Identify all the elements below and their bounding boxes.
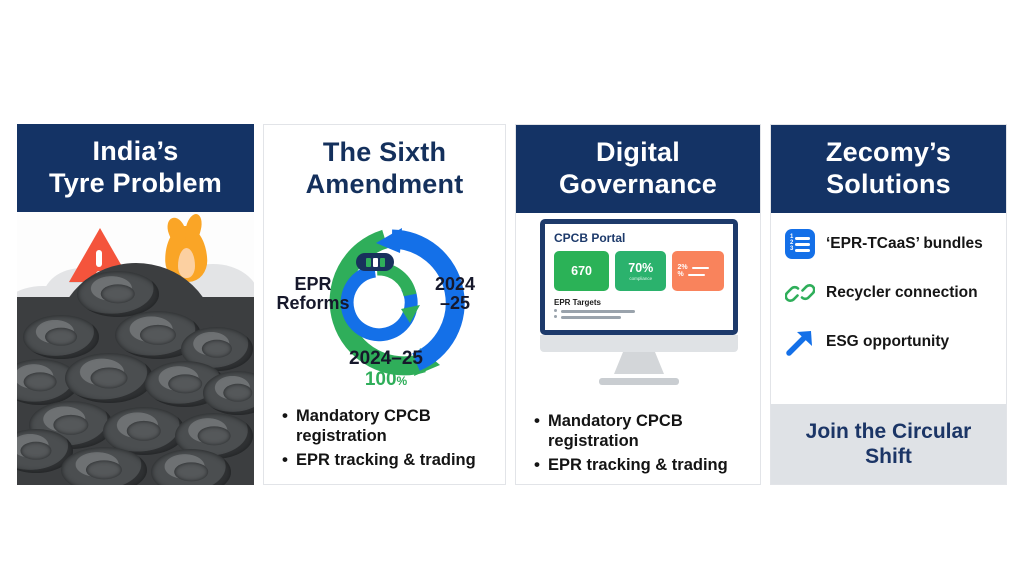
- panel-2-header: The Sixth Amendment: [264, 125, 505, 213]
- panel-2-title-line1: The Sixth: [306, 137, 464, 169]
- epr-targets-title: EPR Targets: [554, 298, 724, 307]
- monitor-stand-neck: [614, 352, 664, 374]
- monitor-stand-base: [599, 378, 679, 385]
- panel-3-bullet-list: Mandatory CPCB registration EPR tracking…: [516, 403, 760, 475]
- feature-label: ESG opportunity: [826, 333, 949, 351]
- chain-link-icon: [785, 278, 815, 308]
- list-icon-line: [795, 237, 810, 240]
- panel-4-header: Zecomy’s Solutions: [771, 125, 1006, 213]
- badge-symbol-euro: [366, 258, 371, 267]
- label-year-2024: 2024: [416, 275, 494, 294]
- panel-sixth-amendment: The Sixth Amendment: [263, 124, 506, 485]
- panel-3-title-line1: Digital: [559, 137, 717, 169]
- alert-bar: [692, 267, 709, 269]
- percent-value: 100: [365, 369, 397, 390]
- cta-line1: Join the Circular: [806, 419, 972, 444]
- label-reforms: Reforms: [274, 294, 352, 313]
- tyre: [61, 447, 147, 485]
- circular-economy-diagram: EPR Reforms 2024 –25 2024–25 100%: [264, 213, 507, 398]
- stat-card-70-percent: 70% compliance: [615, 251, 666, 291]
- stat-card-670-value: 670: [571, 264, 592, 278]
- stat-card-70-value: 70%: [628, 261, 653, 275]
- alert-row-1: 2%: [677, 264, 708, 271]
- badge-symbol-divider: [373, 258, 378, 267]
- alert-row-2: %: [677, 271, 704, 278]
- tyre: [77, 271, 159, 317]
- target-row: [554, 313, 724, 319]
- cpcb-portal-monitor: CPCB Portal 670 70% compliance 2%: [516, 213, 762, 403]
- euro-leaf-badge: [356, 253, 394, 271]
- infographic-board: India’s Tyre Problem: [0, 0, 1024, 576]
- list-item: EPR tracking & trading: [282, 450, 493, 470]
- panel-3-title-line2: Governance: [559, 169, 717, 201]
- feature-item-esg-opportunity[interactable]: ESG opportunity: [785, 327, 996, 357]
- cta-join-circular-shift[interactable]: Join the Circular Shift: [771, 404, 1006, 484]
- warning-exclamation-bar: [96, 250, 102, 267]
- alert-value-2: %: [677, 271, 683, 278]
- panel-zecomy-solutions: Zecomy’s Solutions 1 2 3 ‘EPR-TCaaS’ bun…: [770, 124, 1007, 485]
- feature-item-epr-tcaas[interactable]: 1 2 3 ‘EPR-TCaaS’ bundles: [785, 229, 996, 259]
- solutions-feature-list: 1 2 3 ‘EPR-TCaaS’ bundles Recycler conne…: [771, 213, 1006, 357]
- feature-label: Recycler connection: [826, 284, 978, 302]
- panel-digital-governance: Digital Governance CPCB Portal 670 70% c…: [515, 124, 761, 485]
- diagram-label-bottom: 2024–25 100%: [312, 349, 460, 390]
- cta-line2: Shift: [806, 444, 972, 469]
- bullet-dot-icon: [554, 309, 557, 312]
- monitor-screen: CPCB Portal 670 70% compliance 2%: [540, 219, 738, 335]
- portal-title: CPCB Portal: [554, 231, 724, 245]
- stat-card-row: 670 70% compliance 2% %: [554, 251, 724, 291]
- feature-item-recycler-connection[interactable]: Recycler connection: [785, 278, 996, 308]
- stat-card-670: 670: [554, 251, 609, 291]
- label-period-2024-25: 2024–25: [312, 349, 460, 370]
- tyre: [203, 371, 254, 415]
- label-year-25: –25: [416, 294, 494, 313]
- panel-2-bullet-list: Mandatory CPCB registration EPR tracking…: [264, 398, 505, 470]
- trending-up-arrow-icon: [785, 327, 815, 357]
- panel-3-header: Digital Governance: [516, 125, 760, 213]
- list-item: EPR tracking & trading: [534, 455, 748, 475]
- list-item: Mandatory CPCB registration: [534, 411, 748, 452]
- panel-1-header: India’s Tyre Problem: [17, 124, 254, 212]
- numbered-list-icon: 1 2 3: [785, 229, 815, 259]
- percent-unit: %: [397, 374, 408, 388]
- tyre-pile-illustration: [17, 212, 254, 485]
- list-icon-line: [795, 249, 810, 252]
- bullet-dot-icon: [554, 315, 557, 318]
- tyre: [65, 353, 153, 403]
- stat-card-alerts: 2% %: [672, 251, 724, 291]
- diagram-label-epr-reforms: EPR Reforms: [274, 275, 352, 314]
- panel-india-tyre-problem: India’s Tyre Problem: [17, 124, 254, 485]
- flame-inner-core: [178, 248, 195, 278]
- epr-targets-section: EPR Targets: [554, 298, 724, 319]
- diagram-label-year-right: 2024 –25: [416, 275, 494, 314]
- stat-card-70-sub: compliance: [629, 276, 652, 281]
- tyre-pile: [17, 297, 254, 485]
- inner-green-arc: [377, 269, 410, 295]
- alert-value-1: 2%: [677, 264, 687, 271]
- alert-bar: [688, 274, 705, 276]
- panel-2-title-line2: Amendment: [306, 169, 464, 201]
- diagram-percent: 100%: [312, 370, 460, 391]
- tyre: [23, 315, 99, 359]
- panel-4-title-line1: Zecomy’s: [826, 137, 951, 169]
- panel-1-title-line1: India’s: [49, 136, 222, 168]
- monitor-chin: [540, 335, 738, 352]
- badge-symbol-leaf: [380, 258, 385, 267]
- list-item: Mandatory CPCB registration: [282, 406, 493, 447]
- placeholder-bar: [561, 310, 635, 313]
- feature-label: ‘EPR-TCaaS’ bundles: [826, 235, 983, 253]
- placeholder-bar: [561, 316, 621, 319]
- label-epr: EPR: [274, 275, 352, 294]
- list-icon-line: [795, 243, 810, 246]
- panel-1-title-line2: Tyre Problem: [49, 168, 222, 200]
- list-icon-number: 3: [790, 246, 793, 252]
- panel-4-title-line2: Solutions: [826, 169, 951, 201]
